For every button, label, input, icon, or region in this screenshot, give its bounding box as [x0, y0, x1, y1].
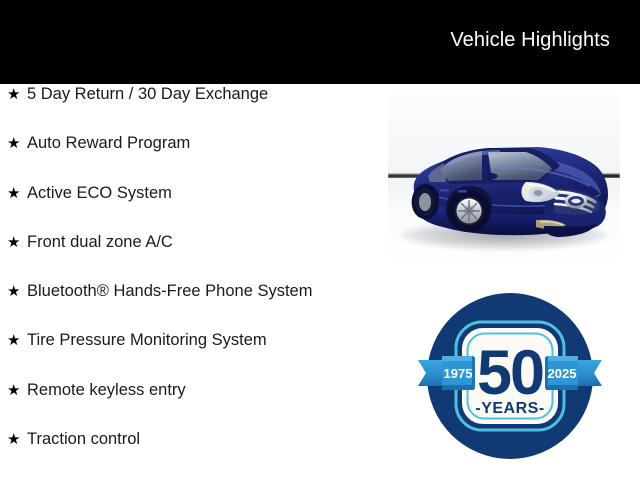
list-item-label: Traction control [27, 429, 386, 449]
list-item-label: Bluetooth® Hands-Free Phone System [27, 281, 386, 301]
star-icon: ★ [7, 85, 27, 105]
list-item: ★ Remote keyless entry [0, 380, 386, 429]
list-item: ★ Front dual zone A/C [0, 232, 386, 281]
list-item-label: Remote keyless entry [27, 380, 386, 400]
car-illustration [388, 94, 620, 264]
list-item-label: 5 Day Return / 30 Day Exchange [27, 84, 386, 104]
list-item: ★ Tire Pressure Monitoring System [0, 330, 386, 379]
page-title: Vehicle Highlights [450, 28, 610, 52]
list-item: ★ Auto Reward Program [0, 133, 386, 182]
header-bar: Vehicle Highlights [0, 0, 640, 84]
list-item-label: Active ECO System [27, 183, 386, 203]
badge-number: 50 [477, 338, 543, 408]
list-item: ★ Traction control [0, 429, 386, 478]
list-item-label: Auto Reward Program [27, 133, 386, 153]
start-year-label: 1975 [444, 366, 473, 381]
start-year-ribbon: 1975 [418, 356, 480, 390]
star-icon: ★ [7, 184, 27, 204]
anniversary-badge-icon: 1975 2025 50 -YEARS- [418, 286, 602, 468]
list-item: ★ Active ECO System [0, 183, 386, 232]
vehicle-photo [388, 94, 620, 264]
list-item: ★ Bluetooth® Hands-Free Phone System [0, 281, 386, 330]
star-icon: ★ [7, 430, 27, 450]
star-icon: ★ [7, 233, 27, 253]
star-icon: ★ [7, 381, 27, 401]
star-icon: ★ [7, 331, 27, 351]
star-icon: ★ [7, 134, 27, 154]
star-icon: ★ [7, 282, 27, 302]
vehicle-highlights-list: ★ 5 Day Return / 30 Day Exchange ★ Auto … [0, 84, 386, 478]
list-item-label: Front dual zone A/C [27, 232, 386, 252]
badge-years-label: -YEARS- [475, 400, 544, 417]
list-item: ★ 5 Day Return / 30 Day Exchange [0, 84, 386, 133]
end-year-label: 2025 [548, 366, 577, 381]
list-item-label: Tire Pressure Monitoring System [27, 330, 386, 350]
end-year-ribbon: 2025 [540, 356, 602, 390]
anniversary-badge: 1975 2025 50 -YEARS- [418, 286, 602, 468]
